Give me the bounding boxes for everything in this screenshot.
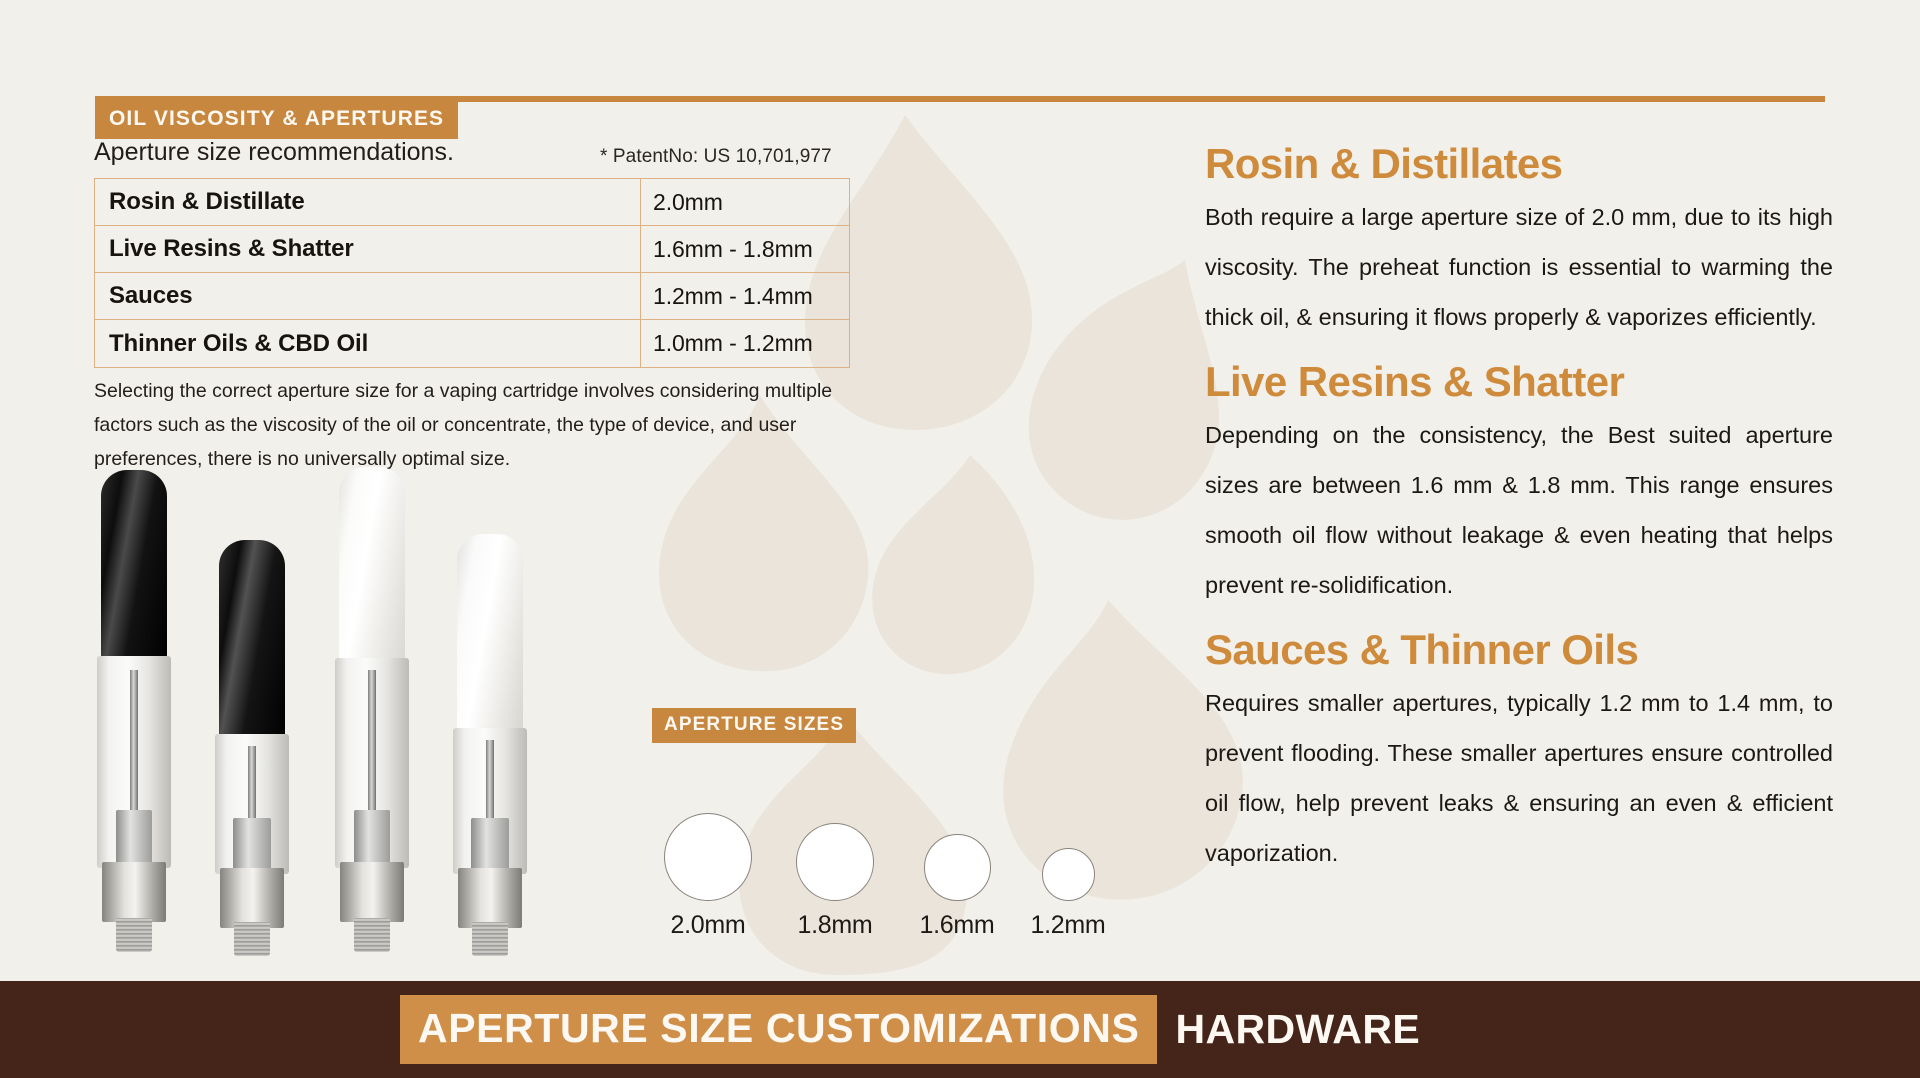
table-row: Rosin & Distillate 2.0mm <box>95 179 849 226</box>
section-heading: Rosin & Distillates <box>1205 138 1833 190</box>
aperture-size-circles: 2.0mm 1.8mm 1.6mm 1.2mm <box>648 760 1148 940</box>
section-heading: Sauces & Thinner Oils <box>1205 624 1833 676</box>
coil-assembly <box>471 818 509 874</box>
section-badge-oil-viscosity: OIL VISCOSITY & APERTURES <box>95 100 458 139</box>
aperture-circle-item: 1.8mm <box>776 823 894 940</box>
section-live-resins-shatter: Live Resins & Shatter Depending on the c… <box>1205 356 1833 610</box>
table-row: Sauces 1.2mm - 1.4mm <box>95 273 849 320</box>
section-body: Requires smaller apertures, typically 1.… <box>1205 678 1833 878</box>
metal-base <box>220 868 284 928</box>
table-cell-name: Live Resins & Shatter <box>95 226 641 272</box>
coil-assembly <box>116 810 152 868</box>
cartridge-white-tall <box>333 470 411 970</box>
center-post <box>130 670 138 820</box>
section-badge-aperture-sizes: APERTURE SIZES <box>652 708 856 743</box>
table-cell-value: 1.2mm - 1.4mm <box>641 273 849 319</box>
metal-base <box>458 868 522 928</box>
coil-assembly <box>233 818 271 874</box>
footer-brand-hardware: HARDWARE <box>1157 995 1420 1064</box>
right-content-column: Rosin & Distillates Both require a large… <box>1205 138 1833 878</box>
table-cell-value: 2.0mm <box>641 179 849 225</box>
cartridge-black-tall <box>95 470 173 970</box>
table-row: Thinner Oils & CBD Oil 1.0mm - 1.2mm <box>95 320 849 367</box>
threaded-connector <box>472 922 508 956</box>
metal-base <box>102 862 166 922</box>
section-rosin-distillates: Rosin & Distillates Both require a large… <box>1205 138 1833 342</box>
aperture-circle-label: 1.6mm <box>900 911 1014 940</box>
threaded-connector <box>234 922 270 956</box>
center-post <box>368 670 376 820</box>
cartridge-white-short <box>451 470 529 970</box>
aperture-circle <box>1042 848 1095 901</box>
table-cell-value: 1.6mm - 1.8mm <box>641 226 849 272</box>
aperture-circle-label: 2.0mm <box>648 911 768 940</box>
table-cell-name: Sauces <box>95 273 641 319</box>
coil-assembly <box>354 810 390 868</box>
aperture-circle <box>664 813 752 901</box>
mouthpiece-tip <box>219 540 285 740</box>
section-sauces-thinner-oils: Sauces & Thinner Oils Requires smaller a… <box>1205 624 1833 878</box>
threaded-connector <box>116 918 152 952</box>
section-body: Depending on the consistency, the Best s… <box>1205 410 1833 610</box>
cartridge-black-short <box>213 470 291 970</box>
section-body: Both require a large aperture size of 2.… <box>1205 192 1833 342</box>
table-cell-name: Rosin & Distillate <box>95 179 641 225</box>
mouthpiece-tip <box>339 467 405 663</box>
table-cell-value: 1.0mm - 1.2mm <box>641 320 849 367</box>
footer-badge-aperture-size-customizations: APERTURE SIZE CUSTOMIZATIONS <box>400 995 1157 1064</box>
table-cell-name: Thinner Oils & CBD Oil <box>95 320 641 367</box>
aperture-circle-item: 1.6mm <box>900 834 1014 940</box>
aperture-recommendations-table: Rosin & Distillate 2.0mm Live Resins & S… <box>94 178 850 368</box>
subtitle-text: Aperture size recommendations. <box>94 138 454 167</box>
aperture-circle-item: 1.2mm <box>1012 848 1124 940</box>
section-heading: Live Resins & Shatter <box>1205 356 1833 408</box>
footer-inner: APERTURE SIZE CUSTOMIZATIONS HARDWARE <box>400 995 1420 1064</box>
table-row: Live Resins & Shatter 1.6mm - 1.8mm <box>95 226 849 273</box>
patent-number: * PatentNo: US 10,701,977 <box>600 146 832 168</box>
threaded-connector <box>354 918 390 952</box>
mouthpiece-tip <box>101 470 167 660</box>
aperture-circle-label: 1.8mm <box>776 911 894 940</box>
footer-banner: APERTURE SIZE CUSTOMIZATIONS HARDWARE <box>0 981 1920 1078</box>
aperture-circle-label: 1.2mm <box>1012 911 1124 940</box>
aperture-circle <box>924 834 991 901</box>
aperture-circle-item: 2.0mm <box>648 813 768 940</box>
metal-base <box>340 862 404 922</box>
aperture-circle <box>796 823 874 901</box>
mouthpiece-tip <box>457 534 523 734</box>
center-post <box>486 740 494 830</box>
note-paragraph: Selecting the correct aperture size for … <box>94 374 864 476</box>
cartridge-product-images <box>95 470 575 970</box>
